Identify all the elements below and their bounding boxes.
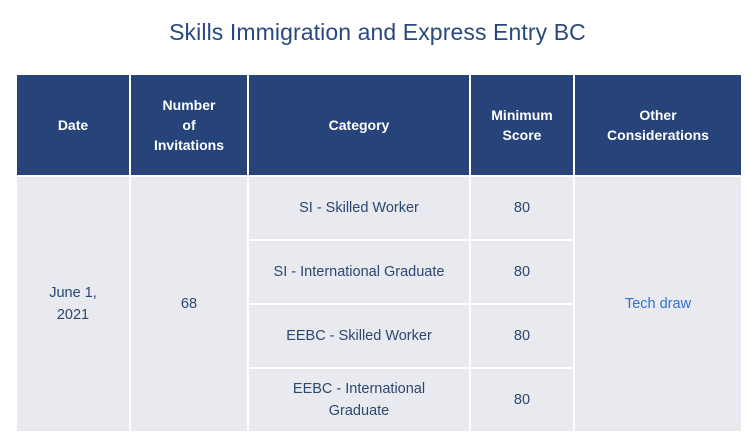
cell-other-considerations: Tech draw — [575, 177, 741, 431]
column-header-other-line-2: Considerations — [583, 125, 733, 145]
table-header: Date Number of Invitations Category Mini… — [17, 75, 741, 175]
column-header-date: Date — [17, 75, 129, 175]
cell-category-line-2: Graduate — [257, 400, 461, 422]
column-header-number-line-2: of — [139, 115, 239, 135]
column-header-minimum-score: Minimum Score — [471, 75, 573, 175]
column-header-category: Category — [249, 75, 469, 175]
column-header-score-line-2: Score — [479, 125, 565, 145]
column-header-score-line-1: Minimum — [479, 105, 565, 125]
column-header-number-of-invitations: Number of Invitations — [131, 75, 247, 175]
cell-number-of-invitations: 68 — [131, 177, 247, 431]
cell-category: SI - International Graduate — [249, 241, 469, 303]
page-root: Skills Immigration and Express Entry BC … — [0, 0, 755, 440]
table-header-row: Date Number of Invitations Category Mini… — [17, 75, 741, 175]
draw-results-table: Date Number of Invitations Category Mini… — [15, 73, 743, 433]
column-header-category-line-1: Category — [257, 115, 461, 135]
column-header-number-line-3: Invitations — [139, 135, 239, 155]
cell-category: EEBC - Skilled Worker — [249, 305, 469, 367]
table-row: June 1, 2021 68 SI - Skilled Worker 80 T… — [17, 177, 741, 239]
cell-category: SI - Skilled Worker — [249, 177, 469, 239]
cell-date-line-1: June 1, — [25, 282, 121, 304]
cell-date: June 1, 2021 — [17, 177, 129, 431]
cell-date-line-2: 2021 — [25, 304, 121, 326]
cell-minimum-score: 80 — [471, 241, 573, 303]
draw-results-table-wrapper: Date Number of Invitations Category Mini… — [15, 73, 741, 433]
column-header-date-line-1: Date — [25, 115, 121, 135]
cell-category-line-1: EEBC - International — [257, 378, 461, 400]
cell-category: EEBC - International Graduate — [249, 369, 469, 431]
table-body: June 1, 2021 68 SI - Skilled Worker 80 T… — [17, 177, 741, 431]
cell-minimum-score: 80 — [471, 369, 573, 431]
cell-minimum-score: 80 — [471, 177, 573, 239]
column-header-other-considerations: Other Considerations — [575, 75, 741, 175]
page-title: Skills Immigration and Express Entry BC — [0, 18, 755, 46]
tech-draw-link[interactable]: Tech draw — [625, 296, 691, 312]
cell-minimum-score: 80 — [471, 305, 573, 367]
column-header-other-line-1: Other — [583, 105, 733, 125]
column-header-number-line-1: Number — [139, 95, 239, 115]
